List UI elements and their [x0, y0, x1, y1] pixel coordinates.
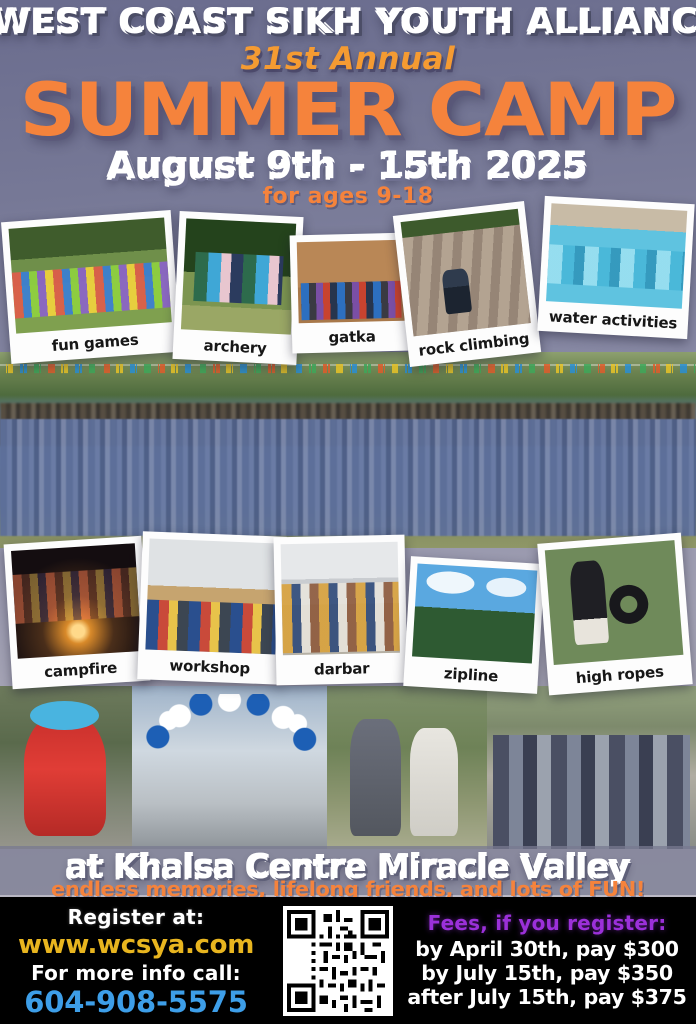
- page-title: SUMMER CAMP: [0, 68, 696, 153]
- photo-caption: gatka: [299, 321, 406, 354]
- footer-qr-block: [272, 906, 404, 1016]
- fee-tier-early: by April 30th, pay $300: [404, 938, 690, 962]
- bottom-photo-strip: [0, 686, 696, 849]
- photo-high-ropes: [545, 540, 684, 665]
- strip-photo-costumes: [0, 686, 132, 849]
- photo-rock-climbing: [401, 209, 531, 337]
- fee-tier-regular: by July 15th, pay $350: [404, 962, 690, 986]
- poster-footer: Register at: www.wcsya.com For more info…: [0, 897, 696, 1024]
- strip-photo-group-selfie: [487, 686, 696, 849]
- photo-zipline: [412, 564, 537, 664]
- strip-photo-piggyback: [327, 686, 487, 849]
- photo-card-archery[interactable]: archery: [172, 211, 303, 365]
- photo-water-activities: [546, 203, 687, 308]
- info-call-label: For more info call:: [0, 961, 272, 985]
- bunting-flags: [0, 364, 696, 390]
- event-dates: August 9th - 15th 2025: [0, 146, 696, 187]
- photo-card-gatka[interactable]: gatka: [290, 233, 413, 354]
- photo-workshop: [145, 539, 279, 655]
- phone-number[interactable]: 604-908-5575: [0, 985, 272, 1019]
- organization-name: WEST COAST SIKH YOUTH ALLIANCE: [0, 2, 696, 41]
- qr-code-icon[interactable]: [283, 906, 393, 1016]
- photo-campfire: [11, 543, 142, 659]
- footer-contact-block: Register at: www.wcsya.com For more info…: [0, 903, 272, 1019]
- photo-card-workshop[interactable]: workshop: [137, 531, 287, 684]
- footer-fees-block: Fees, if you register: by April 30th, pa…: [404, 911, 696, 1009]
- photo-card-zipline[interactable]: zipline: [403, 556, 544, 694]
- poster-header: WEST COAST SIKH YOUTH ALLIANCE 31st Annu…: [0, 0, 696, 205]
- website-link[interactable]: www.wcsya.com: [0, 930, 272, 960]
- strip-photo-balloon-arch: [132, 686, 327, 849]
- register-label: Register at:: [0, 905, 272, 929]
- photo-fun-games: [9, 217, 172, 333]
- photo-caption: archery: [179, 329, 290, 364]
- group-photo-band: [0, 352, 696, 548]
- photo-caption: workshop: [144, 649, 275, 684]
- photo-card-water-activities[interactable]: water activities: [537, 196, 694, 339]
- photo-archery: [181, 218, 296, 334]
- group-photo-crowd: [0, 419, 696, 537]
- fees-heading: Fees, if you register:: [404, 911, 690, 935]
- photo-card-darbar[interactable]: darbar: [273, 535, 407, 686]
- photo-gatka: [297, 240, 405, 324]
- photo-card-rock-climbing[interactable]: rock climbing: [393, 201, 541, 367]
- photo-card-campfire[interactable]: campfire: [4, 536, 151, 689]
- photo-card-high-ropes[interactable]: high ropes: [537, 533, 692, 696]
- photo-card-fun-games[interactable]: fun games: [1, 210, 181, 364]
- poster-root: WEST COAST SIKH YOUTH ALLIANCE 31st Annu…: [0, 0, 696, 1024]
- fee-tier-late: after July 15th, pay $375: [404, 986, 690, 1010]
- group-photo-image: [0, 352, 696, 548]
- photo-caption: darbar: [283, 653, 401, 685]
- photo-darbar: [281, 542, 400, 655]
